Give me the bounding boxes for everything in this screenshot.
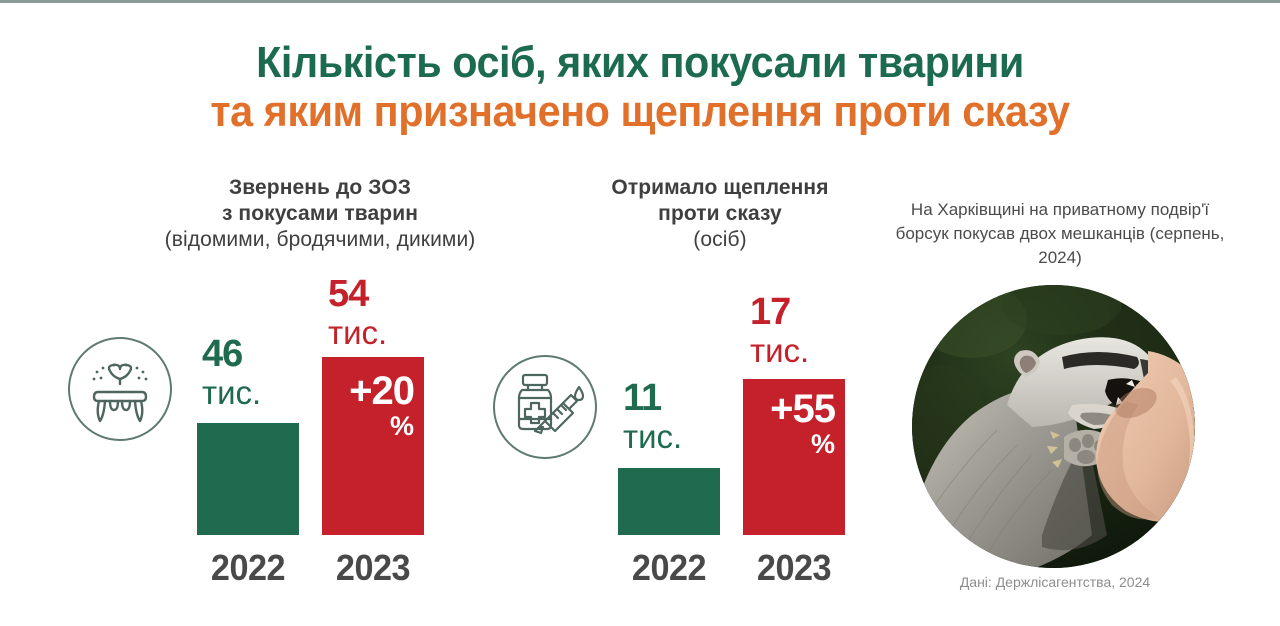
title-line-2: та яким призначено щеплення проти сказу xyxy=(38,87,1241,136)
photo-caption: На Харківщині на приватному подвір'ї бор… xyxy=(895,198,1225,270)
badger-biting-arm-photo xyxy=(912,285,1195,568)
chart-vaccinations: 11 тис. 2022 17 тис. +55 % 2023 xyxy=(483,275,883,595)
title-line-1: Кількість осіб, яких покусали тварини xyxy=(38,38,1241,87)
bar-group-2022: 46 тис. xyxy=(197,335,299,535)
bar-value-label-2022: 46 тис. xyxy=(202,335,261,409)
vaccine-vial-syringe-icon xyxy=(493,355,597,459)
bar-group-2022: 11 тис. xyxy=(618,379,720,535)
bar-delta-2023: +20 % xyxy=(322,371,414,440)
bar-delta-percent-2023: % xyxy=(743,431,835,458)
panel-2-heading-line-1: Отримало щеплення xyxy=(540,175,900,201)
panel-1-heading-note: (відомими, бродячими, дикими) xyxy=(60,227,580,253)
source-note: Дані: Держлісагентства, 2024 xyxy=(905,574,1205,590)
bar-value-unit-2023: тис. xyxy=(328,316,387,349)
bar-value-label-2022: 11 тис. xyxy=(623,379,682,453)
panel-2-heading-note: (осіб) xyxy=(540,227,900,253)
page-title: Кількість осіб, яких покусали тварини та… xyxy=(0,38,1280,136)
bar-value-unit-2022: тис. xyxy=(623,420,682,453)
bar-value-label-2023: 54 тис. xyxy=(328,275,387,349)
bar-delta-value-2023: +55 xyxy=(743,389,835,429)
chart-bites: 46 тис. 2022 54 тис. +20 % 2023 xyxy=(55,275,475,595)
bar-value-number-2023: 54 xyxy=(328,275,387,313)
panel-2-heading-line-2: проти сказу xyxy=(540,201,900,227)
bar-year-label-2023: 2023 xyxy=(739,547,849,589)
panel-2-heading: Отримало щеплення проти сказу (осіб) xyxy=(540,175,900,253)
bar-group-2023: 17 тис. +55 % xyxy=(743,293,845,535)
bar-year-label-2022: 2022 xyxy=(193,547,303,589)
top-divider xyxy=(0,0,1280,3)
bar-value-label-2023: 17 тис. xyxy=(750,293,809,367)
bar-delta-2023: +55 % xyxy=(743,389,835,458)
bar-value-unit-2023: тис. xyxy=(750,334,809,367)
bar-year-label-2022: 2022 xyxy=(614,547,724,589)
bar-group-2023: 54 тис. +20 % xyxy=(322,275,424,535)
panel-1-heading-line-1: Звернень до ЗОЗ xyxy=(60,175,580,201)
bar-value-unit-2022: тис. xyxy=(202,376,261,409)
bar-2022 xyxy=(618,468,720,535)
bar-value-number-2022: 11 xyxy=(623,379,682,417)
panel-1-heading: Звернень до ЗОЗ з покусами тварин (відом… xyxy=(60,175,580,253)
animal-bite-fangs-icon xyxy=(68,337,172,441)
bar-value-number-2023: 17 xyxy=(750,293,809,331)
bar-delta-percent-2023: % xyxy=(322,413,414,440)
bar-value-number-2022: 46 xyxy=(202,335,261,373)
bar-year-label-2023: 2023 xyxy=(318,547,428,589)
panel-1-heading-line-2: з покусами тварин xyxy=(60,201,580,227)
bar-delta-value-2023: +20 xyxy=(322,371,414,411)
bar-2022 xyxy=(197,423,299,535)
